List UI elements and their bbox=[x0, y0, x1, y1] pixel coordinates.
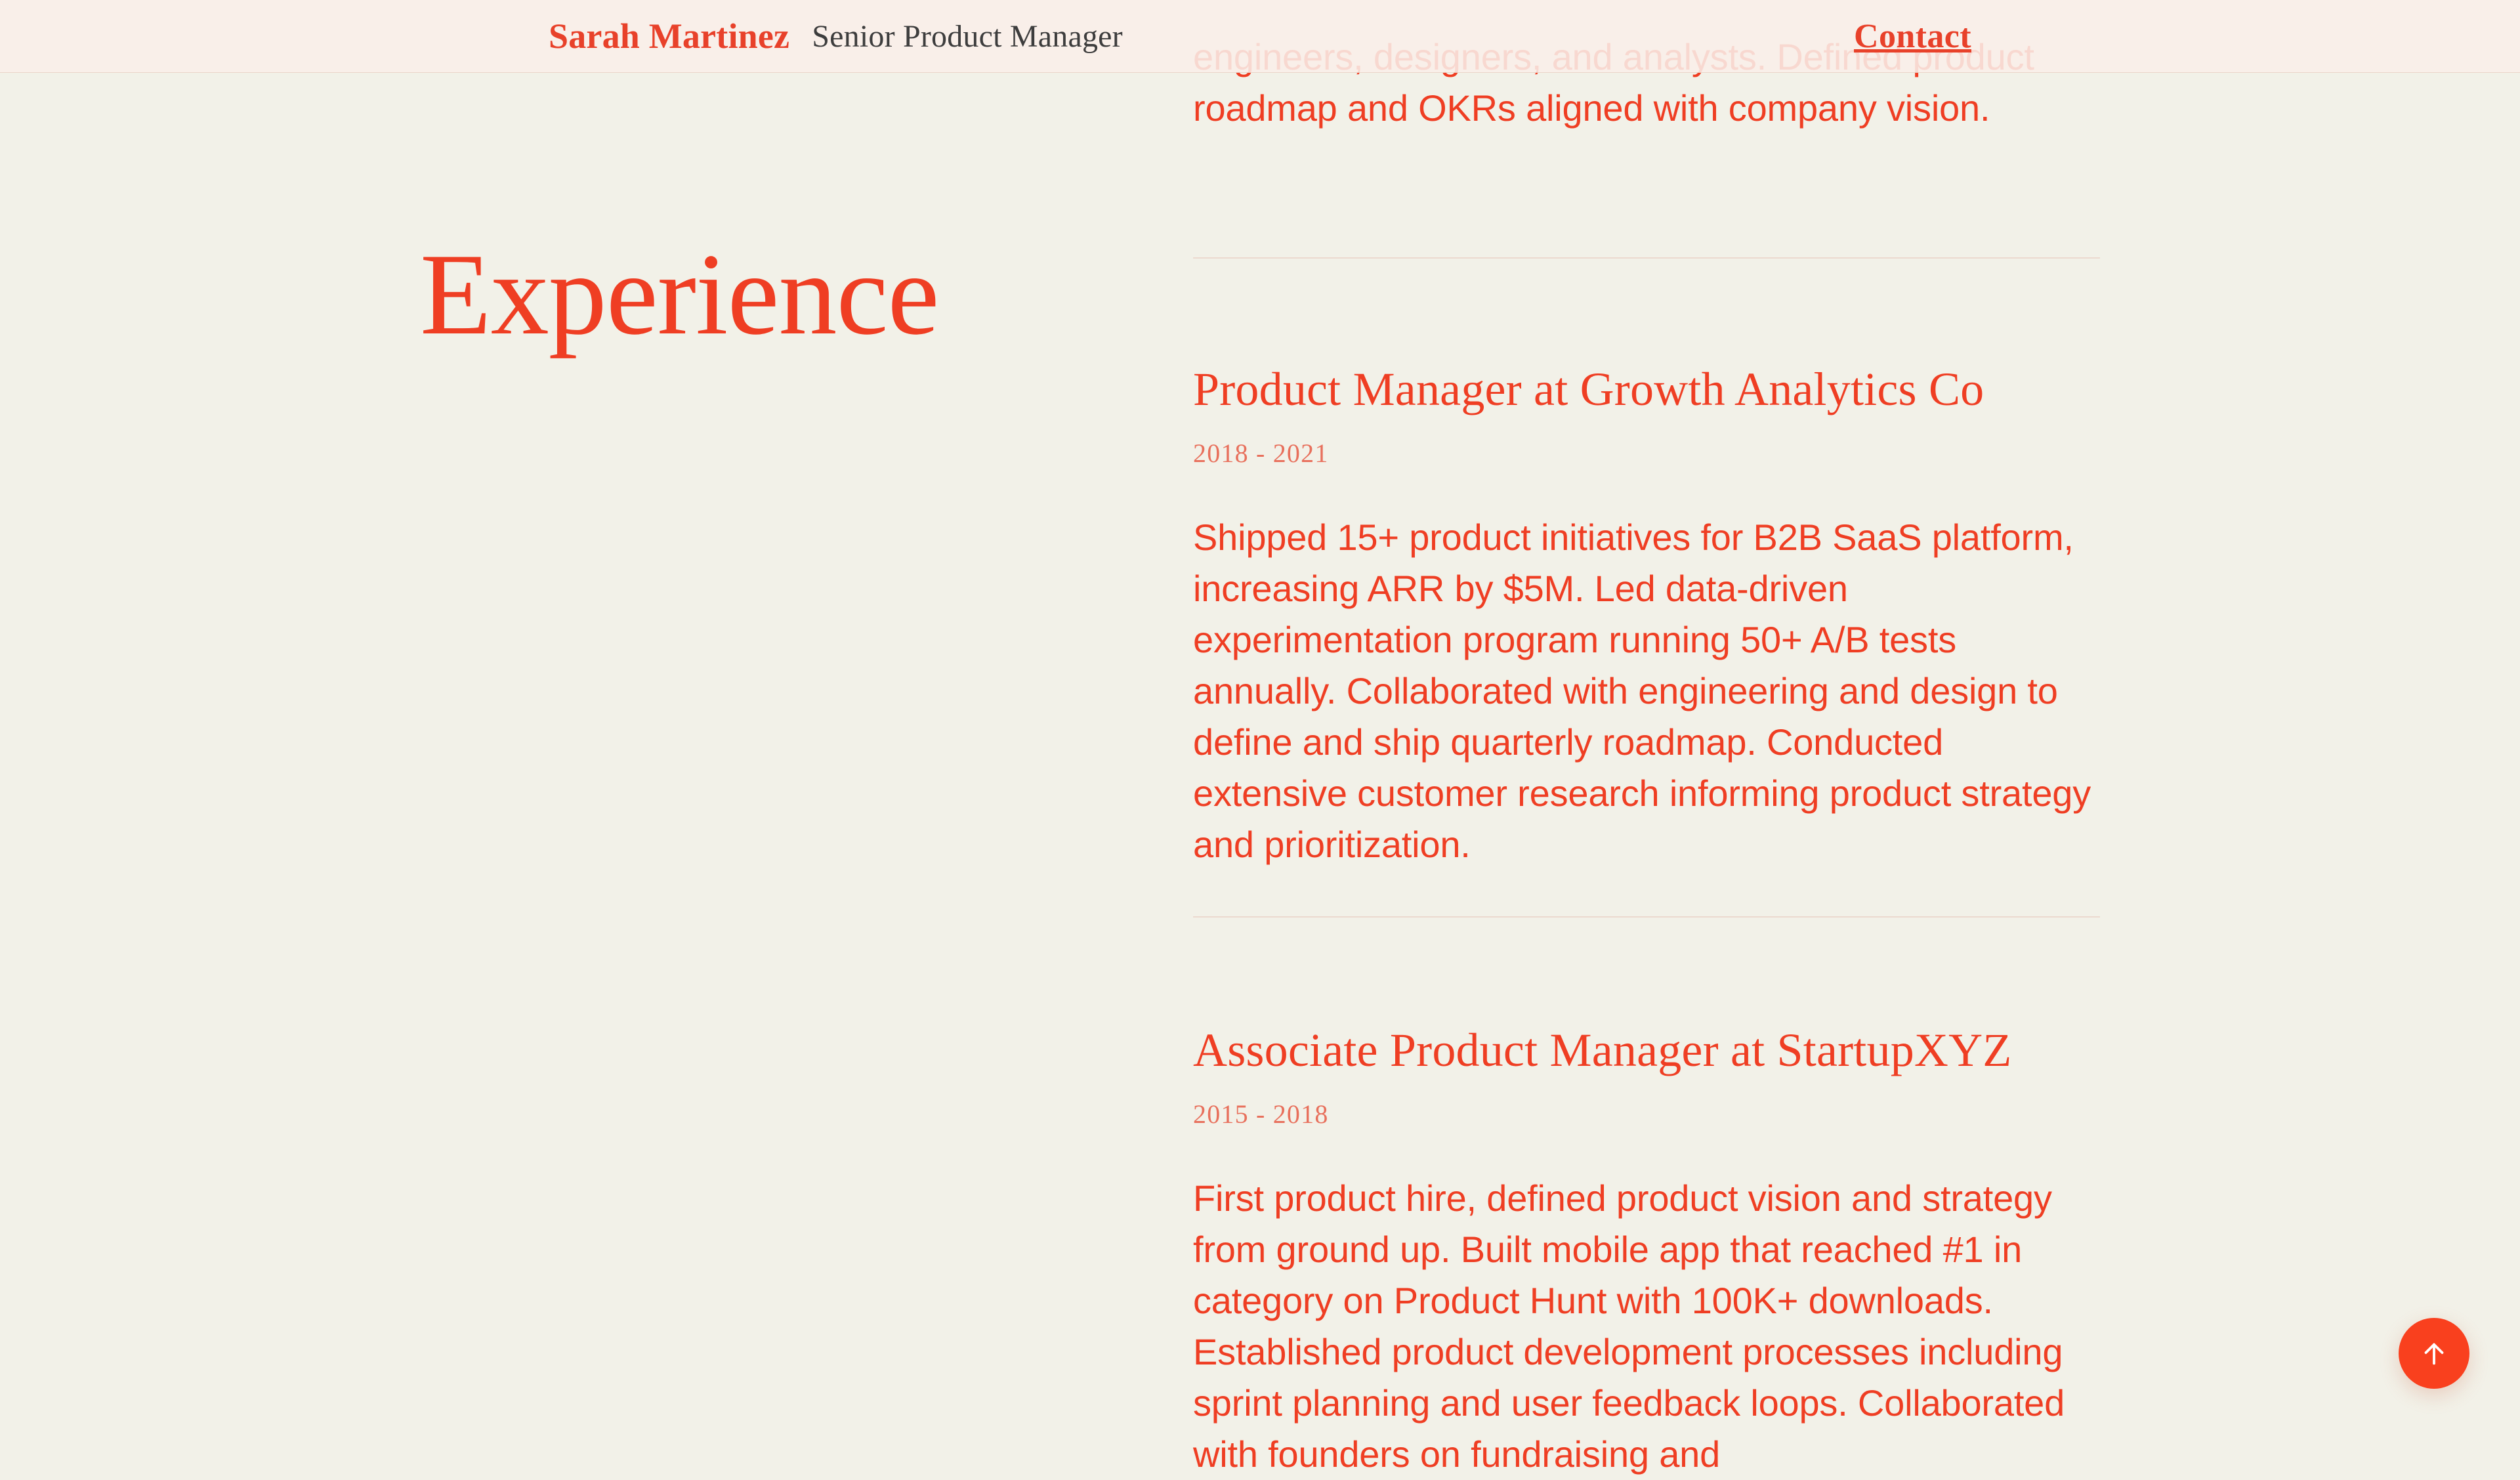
page-title: Experience bbox=[420, 236, 938, 352]
nav-contact-link[interactable]: Contact bbox=[1854, 0, 1971, 72]
arrow-up-icon bbox=[2419, 1338, 2449, 1368]
scroll-to-top-button[interactable] bbox=[2399, 1318, 2469, 1389]
entry-divider bbox=[1193, 257, 2100, 259]
brand-name: Sarah Martinez bbox=[549, 16, 789, 56]
brand[interactable]: Sarah Martinez Senior Product Manager bbox=[549, 0, 1123, 72]
entry-description: First product hire, defined product visi… bbox=[1193, 1173, 2100, 1480]
entry-title: Product Manager at Growth Analytics Co bbox=[1193, 364, 2100, 415]
experience-entry: Product Manager at Growth Analytics Co 2… bbox=[1193, 364, 2100, 870]
entry-dates: 2015 - 2018 bbox=[1193, 1099, 2100, 1130]
entry-dates: 2018 - 2021 bbox=[1193, 438, 2100, 469]
entry-divider bbox=[1193, 916, 2100, 918]
entry-description: Shipped 15+ product initiatives for B2B … bbox=[1193, 512, 2100, 870]
entry-title: Associate Product Manager at StartupXYZ bbox=[1193, 1025, 2100, 1076]
page-root: engineers, designers, and analysts. Defi… bbox=[0, 0, 2520, 1418]
site-header: Sarah Martinez Senior Product Manager Co… bbox=[0, 0, 2520, 73]
experience-entry: Associate Product Manager at StartupXYZ … bbox=[1193, 1025, 2100, 1480]
brand-role: Senior Product Manager bbox=[812, 18, 1123, 54]
